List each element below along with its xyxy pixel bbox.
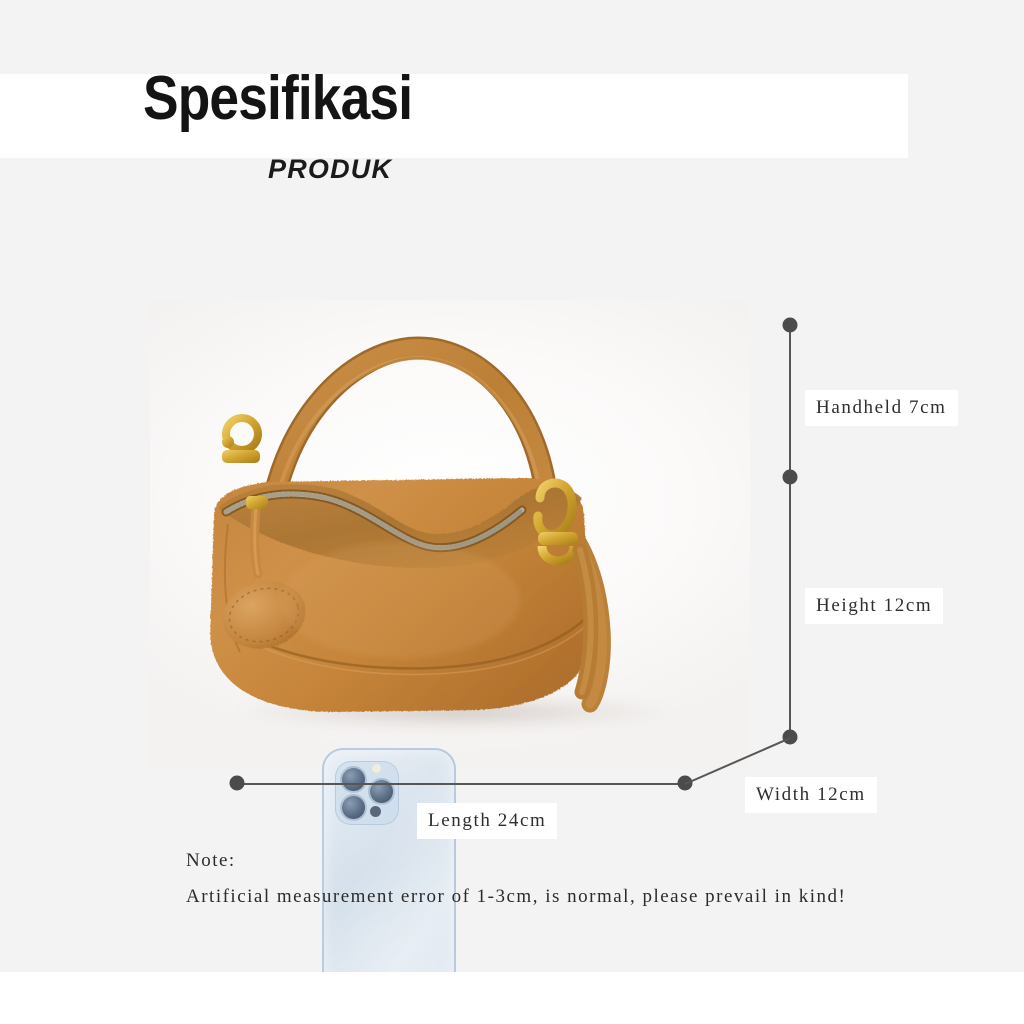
- note-title: Note:: [186, 850, 236, 872]
- handheld-bottom-endpoint: [783, 470, 798, 485]
- handheld-dimension-line: [789, 326, 791, 478]
- length-dimension-line: [237, 783, 685, 785]
- length-left-endpoint: [230, 776, 245, 791]
- length-dimension-label: Length 24cm: [417, 803, 557, 839]
- note-body: Artificial measurement error of 1-3cm, i…: [186, 886, 846, 908]
- dimension-annotations: Handheld 7cm Height 12cm Length 24cm Wid…: [0, 0, 1024, 1024]
- product-specification-page: Spesifikasi PRODUK: [0, 0, 1024, 1024]
- width-dimension-label: Width 12cm: [745, 777, 877, 813]
- handheld-top-endpoint: [783, 318, 798, 333]
- height-dimension-label: Height 12cm: [805, 588, 943, 624]
- bottom-strip: [0, 972, 1024, 1024]
- height-dimension-line: [789, 478, 791, 738]
- handheld-dimension-label: Handheld 7cm: [805, 390, 958, 426]
